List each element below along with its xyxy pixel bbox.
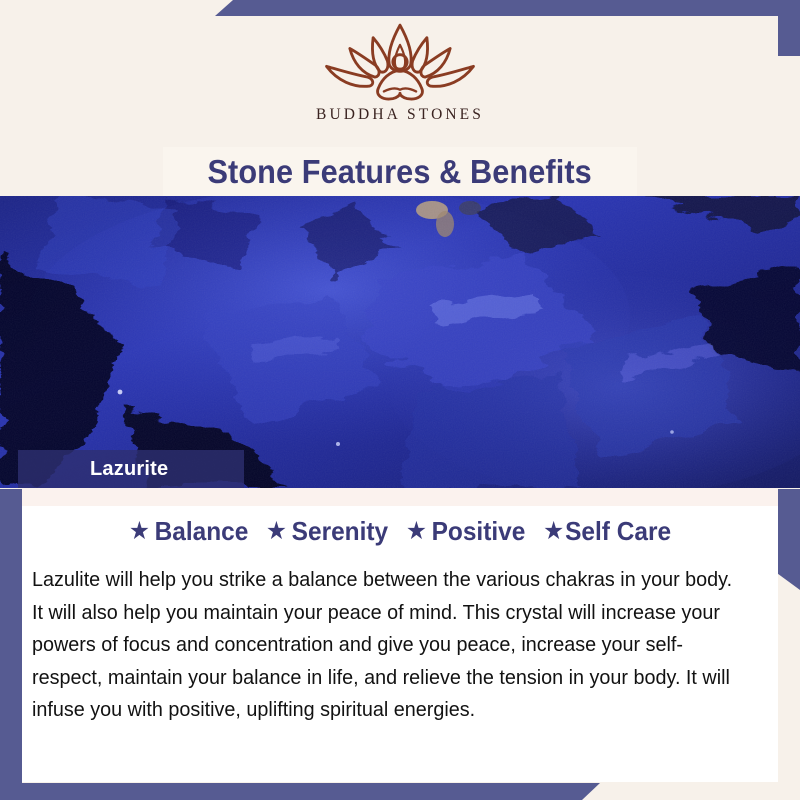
feature-item-positive: ★ Positive — [406, 516, 526, 547]
description-text: Lazulite will help you strike a balance … — [32, 564, 735, 727]
lazurite-stone-image — [0, 196, 800, 488]
star-icon: ★ — [266, 519, 287, 544]
content-panel: ★ Balance ★ Serenity ★ Positive ★ Self C… — [22, 488, 778, 782]
feature-item-serenity: ★ Serenity — [266, 516, 388, 547]
stone-photo — [0, 196, 800, 488]
feature-list: ★ Balance ★ Serenity ★ Positive ★ Self C… — [22, 516, 778, 547]
star-icon: ★ — [543, 519, 564, 544]
frame-accent-left — [0, 489, 22, 786]
feature-label: Positive — [432, 516, 526, 547]
panel-top-fade — [22, 488, 778, 506]
feature-item-self-care: ★ Self Care — [543, 516, 671, 547]
feature-label: Self Care — [565, 516, 671, 547]
brand-wordmark: BUDDHA STONES — [316, 106, 484, 124]
feature-item-balance: ★ Balance — [129, 516, 249, 547]
star-icon: ★ — [406, 519, 427, 544]
star-icon: ★ — [129, 519, 150, 544]
lotus-meditation-icon — [310, 18, 490, 104]
frame-accent-top — [215, 0, 800, 16]
feature-label: Balance — [154, 516, 248, 547]
page-title: Stone Features & Benefits — [208, 153, 592, 191]
frame-accent-right — [778, 489, 800, 590]
stone-name-text: Lazurite — [90, 458, 168, 481]
feature-label: Serenity — [292, 516, 388, 547]
brand-logo: BUDDHA STONES — [0, 18, 800, 143]
frame-accent-top-right — [778, 0, 800, 56]
frame-accent-bottom — [0, 783, 600, 800]
stone-benefits-card: BUDDHA STONES Stone Features & Benefits — [0, 0, 800, 800]
title-banner: Stone Features & Benefits — [163, 147, 637, 196]
stone-name-label: Lazurite — [18, 450, 244, 488]
